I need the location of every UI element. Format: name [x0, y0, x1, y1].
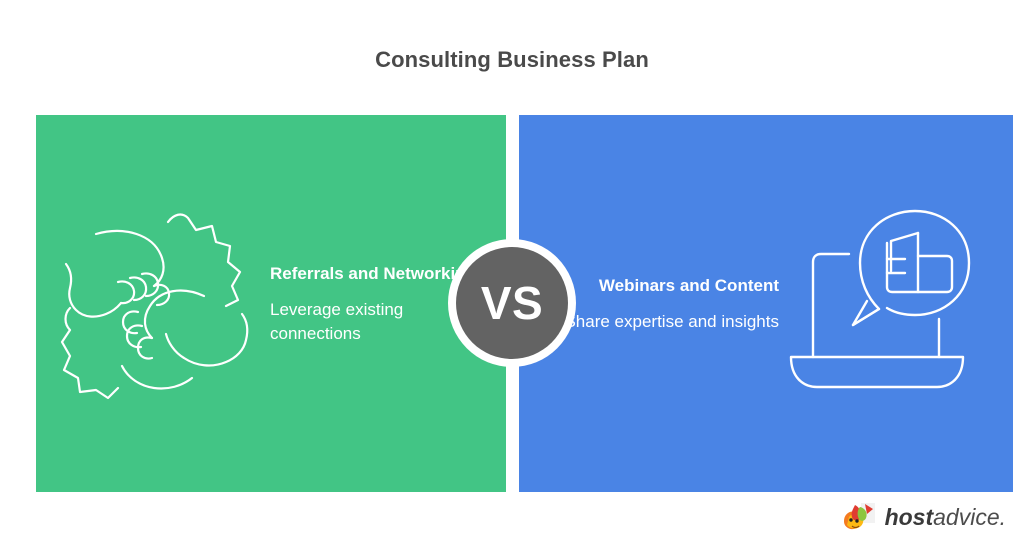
logo-text-host: host — [885, 504, 934, 530]
logo-wordmark: hostadvice. — [885, 506, 1006, 529]
comparison-panel-right: Webinars and Content Share expertise and… — [519, 115, 1013, 492]
vs-circle: VS — [456, 247, 568, 359]
hostadvice-logo[interactable]: hostadvice. — [841, 501, 1006, 533]
teamwork-hands-decorative-icon — [56, 190, 266, 405]
vs-badge: VS — [448, 239, 576, 367]
infographic-canvas: Consulting Business Plan Referrals and N… — [0, 0, 1024, 541]
laptop-webinar-icon — [787, 204, 987, 404]
page-title: Consulting Business Plan — [0, 47, 1024, 73]
vs-label: VS — [481, 280, 543, 326]
hostadvice-mascot-icon — [841, 501, 877, 533]
logo-text-advice: advice. — [933, 504, 1006, 530]
